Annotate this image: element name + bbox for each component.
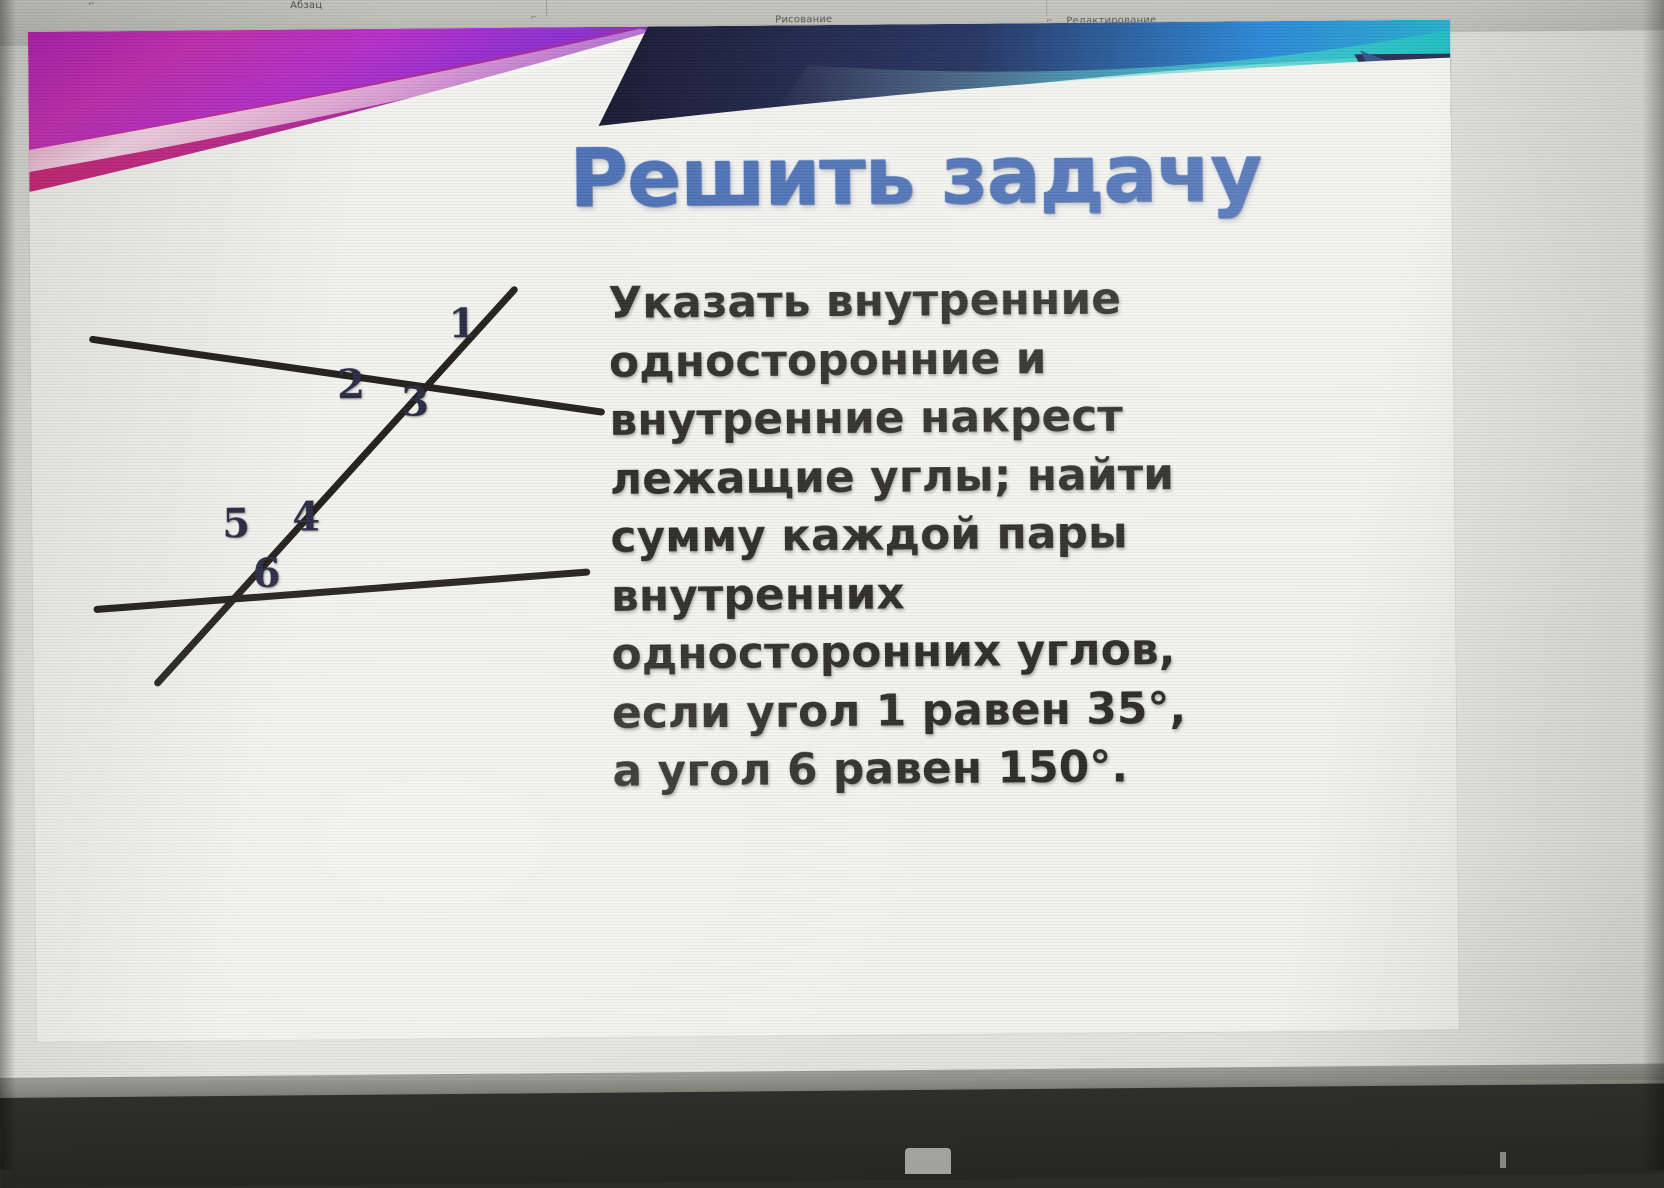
body-line: односторонних углов, — [611, 620, 1351, 685]
desk-surface — [0, 1083, 1664, 1188]
ribbon-group-paragraph: Абзац — [290, 0, 322, 11]
dialog-launcher-icon[interactable]: ⌐ — [530, 13, 537, 22]
body-line: лежащие углы; найти — [610, 444, 1350, 509]
body-line: внутренние накрест — [609, 386, 1349, 451]
angle-label-3: 3 — [401, 379, 429, 426]
slide-body-text: Указать внутренние односторонние и внутр… — [608, 268, 1353, 801]
angle-label-1: 1 — [448, 300, 476, 347]
page-title: Решить задачу — [569, 132, 1430, 220]
body-line: если угол 1 равен 35°, — [612, 678, 1352, 743]
monitor-stand — [905, 1148, 951, 1174]
transversal — [154, 290, 517, 683]
angle-label-4: 4 — [292, 493, 320, 540]
monitor-screen: Абзац Рисование Редактирование Стили Эфф… — [0, 0, 1664, 1080]
body-line: Указать внутренние — [608, 268, 1348, 333]
geometry-figure: 1 2 3 4 5 6 — [44, 227, 618, 682]
power-led-icon — [1500, 1152, 1506, 1168]
angle-label-2: 2 — [337, 361, 365, 408]
angle-label-5: 5 — [222, 500, 250, 547]
lower-line — [97, 572, 587, 609]
geometry-figure-svg — [44, 227, 618, 702]
ribbon-separator — [546, 0, 547, 17]
angle-label-6: 6 — [253, 550, 281, 597]
body-line: а угол 6 равен 150°. — [612, 737, 1352, 802]
ribbon-group-drawing: Рисование — [775, 14, 832, 26]
dialog-launcher-icon[interactable]: ⌐ — [88, 0, 95, 8]
body-line: односторонние и — [609, 327, 1349, 392]
presentation-slide[interactable]: Решить задачу 1 2 3 4 5 — [28, 20, 1459, 1042]
monitor-photo: Абзац Рисование Редактирование Стили Эфф… — [0, 0, 1664, 1170]
body-line: внутренних — [611, 561, 1351, 626]
ribbon-separator — [1046, 0, 1047, 16]
body-line: сумму каждой пары — [610, 503, 1350, 568]
